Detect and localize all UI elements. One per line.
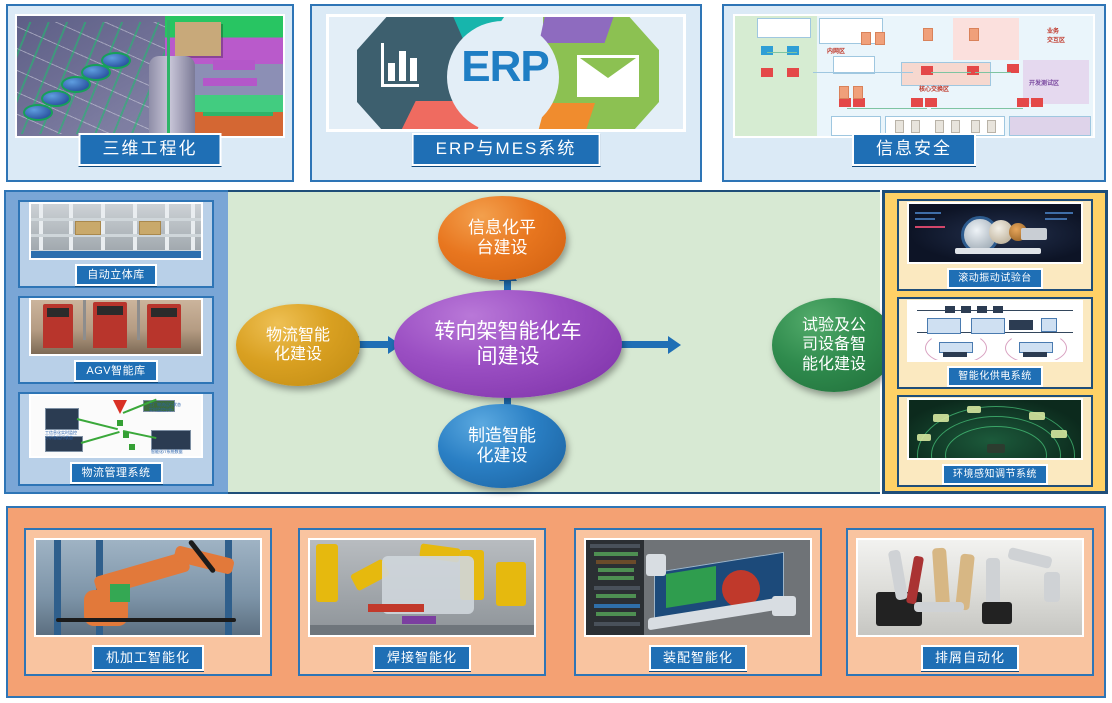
caption-logistics-management[interactable]: 物流管理系统 (70, 462, 163, 484)
hub-line2: 间建设 (427, 344, 590, 369)
top-row: 三维工程化 (0, 0, 1112, 186)
art-network-topology: 内网区 核心交换区 开发测试区 业务交互区 (735, 16, 1093, 136)
node-right-line2: 司设备智 (794, 335, 874, 354)
card-machining-intelligence[interactable]: 机加工智能化 (24, 528, 272, 676)
bottom-row: 机加工智能化 焊接智能化 (6, 506, 1106, 698)
panel-center-diagram: 信息化平 台建设 物流智能 化建设 转向架智能化车 间建设 试验及公 (228, 190, 880, 494)
panel-test-equipment-group: 滚动振动试验台 (882, 190, 1108, 494)
art-3d-plant (17, 16, 283, 136)
caption-assembly-intelligence[interactable]: 装配智能化 (649, 645, 747, 671)
node-top-line1: 信息化平 (460, 218, 544, 238)
thumbnail-chip-removal-arm (856, 538, 1084, 637)
panel-information-security[interactable]: 内网区 核心交换区 开发测试区 业务交互区 (722, 4, 1106, 182)
bar-chart-icon (381, 43, 421, 87)
node-left-line1: 物流智能 (258, 326, 338, 345)
node-left-line2: 化建设 (258, 345, 338, 364)
caption-machining-intelligence[interactable]: 机加工智能化 (92, 645, 204, 671)
diagram-root: 三维工程化 (0, 0, 1112, 703)
caption-3d-engineering[interactable]: 三维工程化 (79, 133, 222, 166)
thumbnail-machining-robot (34, 538, 262, 637)
node-right-line3: 能化建设 (794, 355, 874, 374)
thumbnail-welding-robot-cell (308, 538, 536, 637)
arrow-head-right (668, 336, 681, 354)
node-informatization-platform[interactable]: 信息化平 台建设 (438, 196, 566, 280)
node-logistics-intelligence[interactable]: 物流智能 化建设 (236, 304, 360, 386)
node-right-line1: 试验及公 (794, 316, 874, 335)
hub-line1: 转向架智能化车 (427, 319, 590, 344)
erp-logo-text: ERP (451, 45, 559, 89)
card-assembly-intelligence[interactable]: 装配智能化 (574, 528, 822, 676)
panel-erp-mes[interactable]: ERP ERP与MES系统 (310, 4, 702, 182)
card-automated-warehouse[interactable]: 自动立体库 (18, 200, 214, 288)
card-vibration-test-bench[interactable]: 滚动振动试验台 (897, 199, 1093, 291)
thumbnail-vibration-test-bench (907, 202, 1083, 264)
caption-information-security[interactable]: 信息安全 (852, 133, 976, 166)
card-agv-warehouse[interactable]: AGV智能库 (18, 296, 214, 384)
caption-power-supply-system[interactable]: 智能化供电系统 (947, 366, 1043, 387)
thumbnail-automated-warehouse (29, 202, 203, 260)
card-welding-intelligence[interactable]: 焊接智能化 (298, 528, 546, 676)
thumbnail-environment-lidar (907, 398, 1083, 460)
node-top-line2: 台建设 (460, 238, 544, 258)
envelope-icon (577, 55, 639, 97)
caption-agv-warehouse[interactable]: AGV智能库 (74, 360, 157, 382)
thumbnail-erp-logo: ERP (326, 14, 686, 132)
thumbnail-logistics-diagram: 工信息化实时监控分析各运行状态 工厂物流运行状态实时监控分析 智能化IT系统数据 (29, 394, 203, 458)
caption-vibration-test-bench[interactable]: 滚动振动试验台 (947, 268, 1043, 289)
panel-3d-engineering[interactable]: 三维工程化 (6, 4, 294, 182)
node-bottom-line1: 制造智能 (460, 426, 544, 446)
arrow-shaft-right (618, 341, 674, 348)
node-bottom-line2: 化建设 (460, 446, 544, 466)
panel-logistics-group: 自动立体库 AGV智能库 (4, 190, 230, 494)
card-logistics-management[interactable]: 工信息化实时监控分析各运行状态 工厂物流运行状态实时监控分析 智能化IT系统数据… (18, 392, 214, 486)
card-chip-removal-automation[interactable]: 排屑自动化 (846, 528, 1094, 676)
caption-environment-sensing[interactable]: 环境感知调节系统 (942, 464, 1048, 485)
thumbnail-3d-plant-model (15, 14, 285, 138)
card-environment-sensing[interactable]: 环境感知调节系统 (897, 395, 1093, 487)
thumbnail-agv-forklifts (29, 298, 203, 356)
art-erp-logo: ERP (326, 14, 686, 132)
card-power-supply-system[interactable]: 智能化供电系统 (897, 297, 1093, 389)
thumbnail-assembly-cad (584, 538, 812, 637)
node-hub-bogie-workshop[interactable]: 转向架智能化车 间建设 (394, 290, 622, 398)
thumbnail-network-topology: 内网区 核心交换区 开发测试区 业务交互区 (733, 14, 1095, 138)
node-test-equipment-intelligence[interactable]: 试验及公 司设备智 能化建设 (772, 298, 896, 392)
caption-chip-removal-automation[interactable]: 排屑自动化 (921, 645, 1019, 671)
caption-erp-mes[interactable]: ERP与MES系统 (412, 133, 601, 166)
node-manufacturing-intelligence[interactable]: 制造智能 化建设 (438, 404, 566, 488)
middle-row: 自动立体库 AGV智能库 (0, 188, 1112, 498)
thumbnail-power-supply-schematic (907, 300, 1083, 362)
caption-automated-warehouse[interactable]: 自动立体库 (75, 264, 157, 286)
caption-welding-intelligence[interactable]: 焊接智能化 (373, 645, 471, 671)
